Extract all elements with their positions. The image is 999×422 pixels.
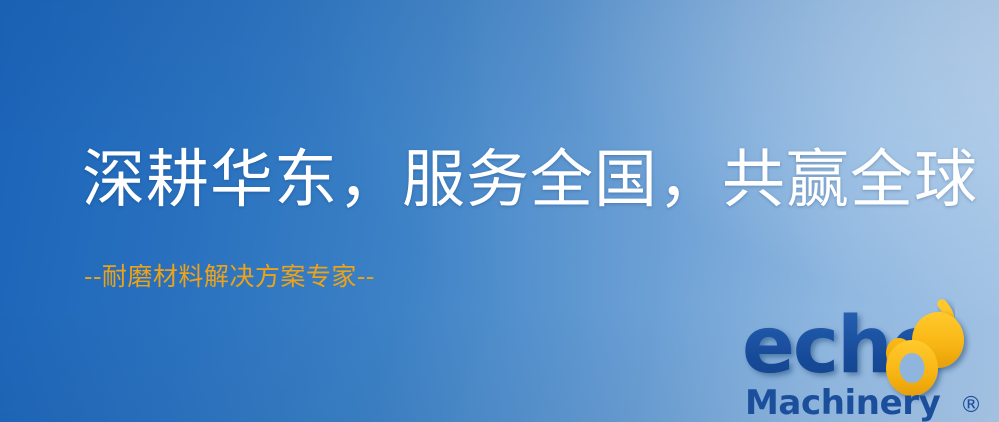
logo-tagline: Machinery <box>745 383 941 422</box>
echo-machinery-logo[interactable]: echo Machinery ® <box>742 296 994 422</box>
hero-banner: 深耕华东，服务全国，共赢全球 --耐磨材料解决方案专家-- <box>0 0 999 422</box>
banner-subtitle: --耐磨材料解决方案专家-- <box>84 264 375 289</box>
banner-headline: 深耕华东，服务全国，共赢全球 <box>82 148 978 211</box>
registered-trademark-icon: ® <box>960 393 982 418</box>
